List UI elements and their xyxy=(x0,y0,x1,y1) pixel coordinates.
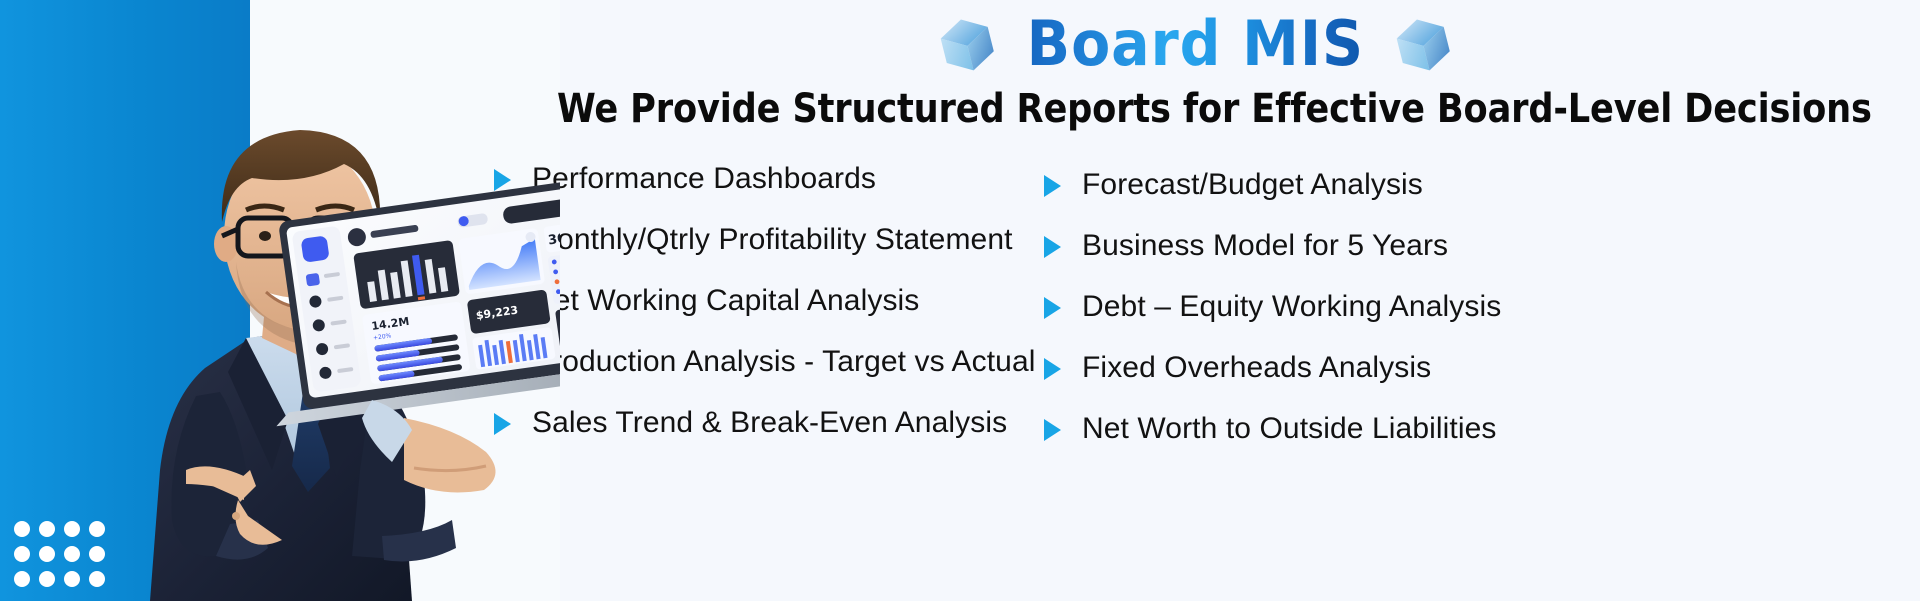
list-item-label: Net Working Capital Analysis xyxy=(532,284,919,318)
list-item: Fixed Overheads Analysis xyxy=(1044,351,1604,387)
dot-grid-decoration xyxy=(14,521,105,587)
list-item: Net Working Capital Analysis xyxy=(494,284,1054,320)
list-item-label: Monthly/Qtrly Profitability Statement xyxy=(532,223,1013,257)
list-item-label: Business Model for 5 Years xyxy=(1082,229,1448,263)
businessman-with-laptop-photo: 30% 14.2M xyxy=(0,0,560,601)
dot xyxy=(14,521,30,537)
list-item: Sales Trend & Break-Even Analysis xyxy=(494,406,1054,442)
page-title: Board MIS xyxy=(1023,13,1368,75)
cube-icon-right xyxy=(1392,13,1454,75)
dot xyxy=(89,571,105,587)
services-right-column: Forecast/Budget Analysis Business Model … xyxy=(1044,162,1604,473)
content-area: Board MIS We Provide Structured Reports … xyxy=(470,0,1920,601)
triangle-bullet-icon xyxy=(1044,419,1061,441)
dot xyxy=(89,546,105,562)
triangle-bullet-icon xyxy=(1044,236,1061,258)
triangle-bullet-icon xyxy=(1044,297,1061,319)
list-item-label: Sales Trend & Break-Even Analysis xyxy=(532,406,1007,440)
triangle-bullet-icon xyxy=(1044,358,1061,380)
list-item: Production Analysis - Target vs Actual xyxy=(494,345,1054,381)
dot xyxy=(39,546,55,562)
list-item-label: Production Analysis - Target vs Actual xyxy=(532,345,1036,379)
board-mis-banner: 30% 14.2M xyxy=(0,0,1920,601)
list-item: Net Worth to Outside Liabilities xyxy=(1044,412,1604,448)
list-item: Business Model for 5 Years xyxy=(1044,229,1604,265)
dot xyxy=(14,571,30,587)
list-item-label: Net Worth to Outside Liabilities xyxy=(1082,412,1497,446)
list-item: Forecast/Budget Analysis xyxy=(1044,168,1604,204)
list-item: Performance Dashboards xyxy=(494,162,1054,198)
list-item: Monthly/Qtrly Profitability Statement xyxy=(494,223,1054,259)
list-item-label: Debt – Equity Working Analysis xyxy=(1082,290,1501,324)
dot xyxy=(14,546,30,562)
triangle-bullet-icon xyxy=(1044,175,1061,197)
list-item-label: Performance Dashboards xyxy=(532,162,876,196)
dot xyxy=(64,521,80,537)
dot xyxy=(64,546,80,562)
left-visual-panel: 30% 14.2M xyxy=(0,0,560,601)
list-item-label: Fixed Overheads Analysis xyxy=(1082,351,1431,385)
dot xyxy=(89,521,105,537)
dot xyxy=(39,521,55,537)
list-item-label: Forecast/Budget Analysis xyxy=(1082,168,1423,202)
list-item: Debt – Equity Working Analysis xyxy=(1044,290,1604,326)
dot xyxy=(39,571,55,587)
headline: We Provide Structured Reports for Effect… xyxy=(557,86,1833,132)
services-left-column: Performance Dashboards Monthly/Qtrly Pro… xyxy=(494,162,1054,473)
brand-title-row: Board MIS xyxy=(470,0,1920,82)
services-lists: Performance Dashboards Monthly/Qtrly Pro… xyxy=(470,162,1920,473)
cube-icon-left xyxy=(936,13,998,75)
dot xyxy=(64,571,80,587)
